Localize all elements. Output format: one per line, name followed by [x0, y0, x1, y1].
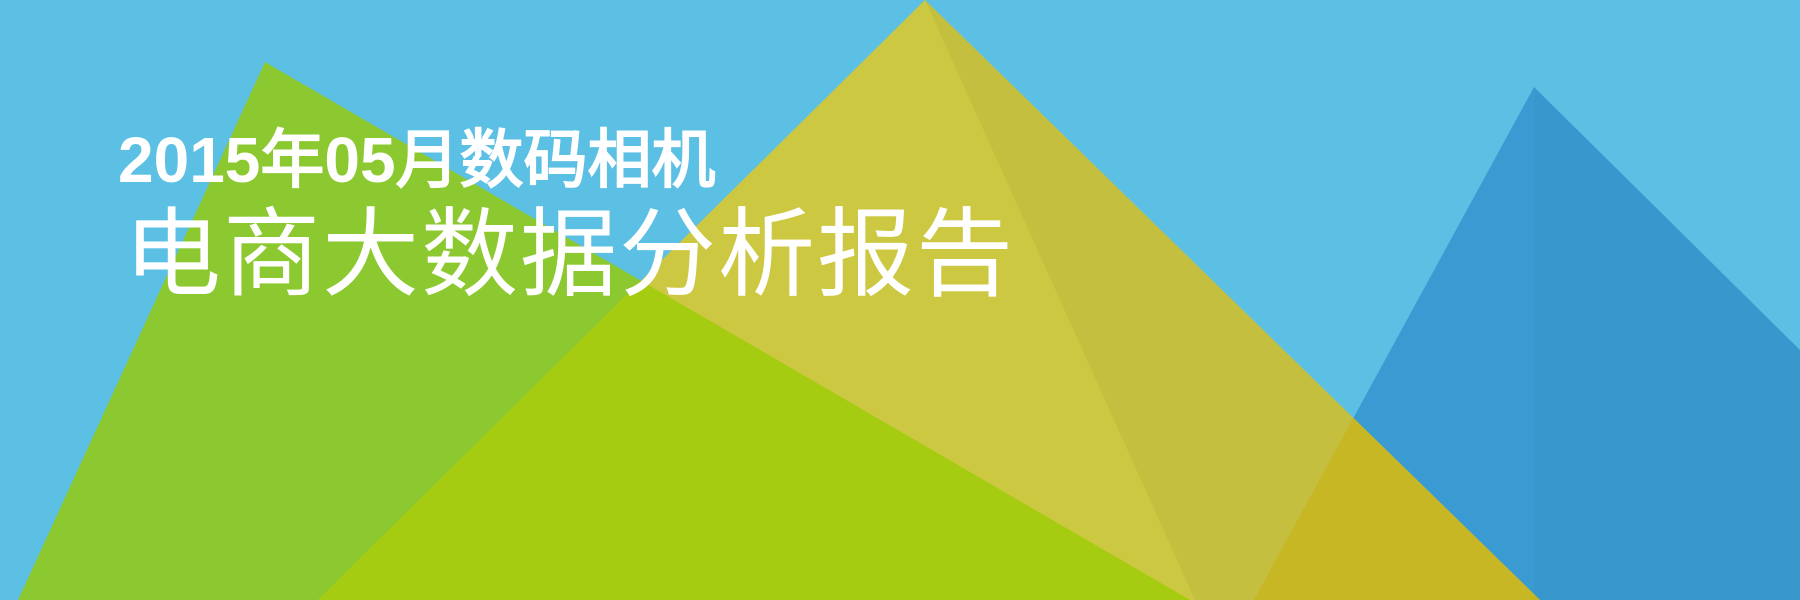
background-mountain-graphic: [0, 0, 1800, 600]
report-cover-banner: 2015年05月数码相机 电商大数据分析报告: [0, 0, 1800, 600]
